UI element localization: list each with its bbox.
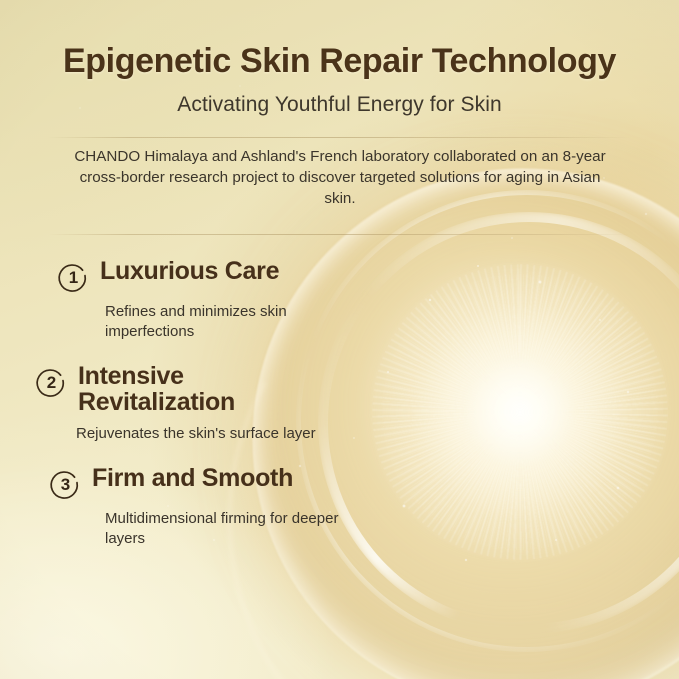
- benefit-1-title: Luxurious Care: [100, 258, 279, 284]
- poster-content: Epigenetic Skin Repair Technology Activa…: [0, 0, 679, 679]
- benefit-3-number: 3: [50, 469, 81, 500]
- benefit-2-title: Intensive Revitalization: [78, 363, 328, 415]
- intro-paragraph: CHANDO Himalaya and Ashland's French lab…: [70, 146, 610, 209]
- list-item: 1 Luxurious Care Refines and minimizes s…: [0, 258, 360, 342]
- list-item: 2 Intensive Revitalization Rejuvenates t…: [0, 363, 360, 444]
- benefit-2-description: Rejuvenates the skin's surface layer: [76, 424, 360, 444]
- list-item: 3 Firm and Smooth Multidimensional firmi…: [0, 465, 360, 549]
- number-circle-1-icon: 1: [58, 262, 89, 293]
- page-subtitle: Activating Youthful Energy for Skin: [0, 93, 679, 117]
- divider-bottom: [48, 234, 631, 235]
- benefit-3-description: Multidimensional firming for deeper laye…: [105, 509, 360, 549]
- benefit-2-number: 2: [36, 367, 67, 398]
- benefit-1-number: 1: [58, 262, 89, 293]
- benefits-list: 1 Luxurious Care Refines and minimizes s…: [0, 258, 360, 549]
- number-circle-3-icon: 3: [50, 469, 81, 500]
- benefit-2-header: 2 Intensive Revitalization: [36, 363, 360, 415]
- number-circle-2-icon: 2: [36, 367, 67, 398]
- divider-top: [48, 137, 631, 138]
- product-benefits-poster: Epigenetic Skin Repair Technology Activa…: [0, 0, 679, 679]
- benefit-3-header: 3 Firm and Smooth: [50, 465, 360, 500]
- benefit-3-title: Firm and Smooth: [92, 465, 293, 491]
- benefit-1-header: 1 Luxurious Care: [58, 258, 360, 293]
- page-title: Epigenetic Skin Repair Technology: [0, 42, 679, 81]
- benefit-1-description: Refines and minimizes skin imperfections: [105, 302, 360, 342]
